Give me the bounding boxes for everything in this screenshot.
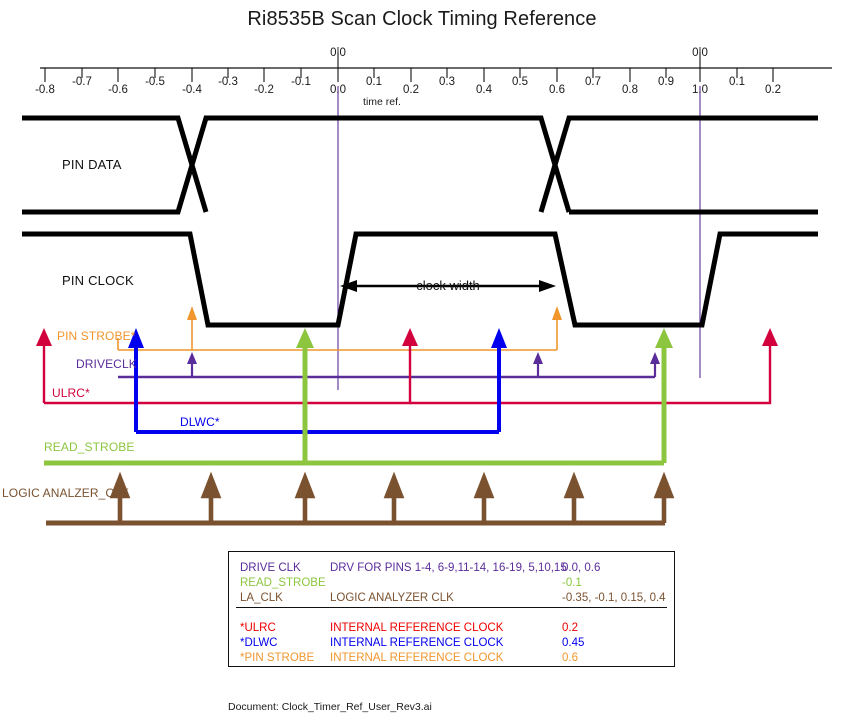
pin-data-label: PIN DATA [62,157,122,172]
timing-diagram-canvas: Ri8535B Scan Clock Timing Reference 0|0 … [0,0,844,719]
axis-tick-0_2: 0.2 [765,84,781,96]
legend-value-top-0: 0.0, 0.6 [562,562,600,574]
axis-tick-neg0_3: -0.3 [218,76,238,88]
axis-tick-neg0_6: -0.6 [108,84,128,96]
clock-width-label: clock width [416,278,480,293]
axis-tick-neg0_1: -0.1 [291,76,311,88]
legend-name-bottom-1: *DLWC [240,637,277,649]
signal-label-driveclk: DRIVECLK [76,357,137,371]
reference-guide-lines [338,86,700,390]
signal-label-dlwc: DLWC* [180,415,220,429]
axis-tick-0_5: 0.5 [512,76,528,88]
legend-name-top-1: READ_STROBE [240,577,326,589]
legend-desc-bottom-1: INTERNAL REFERENCE CLOCK [330,637,503,649]
legend-divider [236,607,667,608]
zero-marker-wrap: 0|0 [692,47,708,59]
axis-tick-0_1: 0.1 [729,76,745,88]
signal-label-ulrc: ULRC* [52,386,90,400]
legend-value-top-1: -0.1 [562,577,582,589]
axis-tick-0_3: 0.3 [439,76,455,88]
legend-value-bottom-2: 0.6 [562,652,578,664]
axis-tick-0_9: 0.9 [658,76,674,88]
axis-tick-0_4: 0.4 [476,84,492,96]
signal-label-pin-strobe: PIN STROBE* [57,329,135,343]
axis-tick-neg0_5: -0.5 [145,76,165,88]
legend-name-bottom-0: *ULRC [240,622,276,634]
legend-desc-bottom-0: INTERNAL REFERENCE CLOCK [330,622,503,634]
legend-desc-top-0: DRV FOR PINS 1-4, 6-9,11-14, 16-19, 5,10… [330,562,567,574]
page-title: Ri8535B Scan Clock Timing Reference [0,8,844,31]
axis-tick-neg0_4: -0.4 [182,84,202,96]
axis-tick-0_8: 0.8 [622,84,638,96]
axis-tick-0_7: 0.7 [585,76,601,88]
axis-tick-0_6: 0.6 [549,84,565,96]
axis-tick-0_1: 0.1 [366,76,382,88]
axis-tick-neg0_7: -0.7 [72,76,92,88]
legend-name-bottom-2: *PIN STROBE [240,652,314,664]
legend-name-top-2: LA_CLK [240,592,283,604]
zero-marker-origin: 0|0 [330,47,346,59]
legend-value-top-2: -0.35, -0.1, 0.15, 0.4 [562,592,666,604]
driveclk-signal [118,352,660,377]
legend-value-bottom-1: 0.45 [562,637,584,649]
axis-tick-0_0: 0.0 [330,84,346,96]
pin-data-waveform [22,118,818,212]
la-clk-signal [46,478,671,523]
axis-tick-0_2: 0.2 [403,84,419,96]
signal-label-la-clk: LOGIC ANALZER_CLK [2,486,129,500]
time-ref-caption: time ref. [363,96,401,108]
pin-clock-label: PIN CLOCK [62,273,134,288]
axis-tick-neg0_8: -0.8 [35,84,55,96]
read-strobe-signal [44,328,673,463]
legend-name-top-0: DRIVE CLK [240,562,301,574]
axis-tick-1_0: 1.0 [692,84,708,96]
signal-label-read-strobe: READ_STROBE [44,440,134,454]
legend-desc-bottom-2: INTERNAL REFERENCE CLOCK [330,652,503,664]
document-footer: Document: Clock_Timer_Ref_User_Rev3.ai [228,701,432,713]
legend-value-bottom-0: 0.2 [562,622,578,634]
legend-desc-top-2: LOGIC ANALYZER CLK [330,592,454,604]
axis-tick-neg0_2: -0.2 [254,84,274,96]
